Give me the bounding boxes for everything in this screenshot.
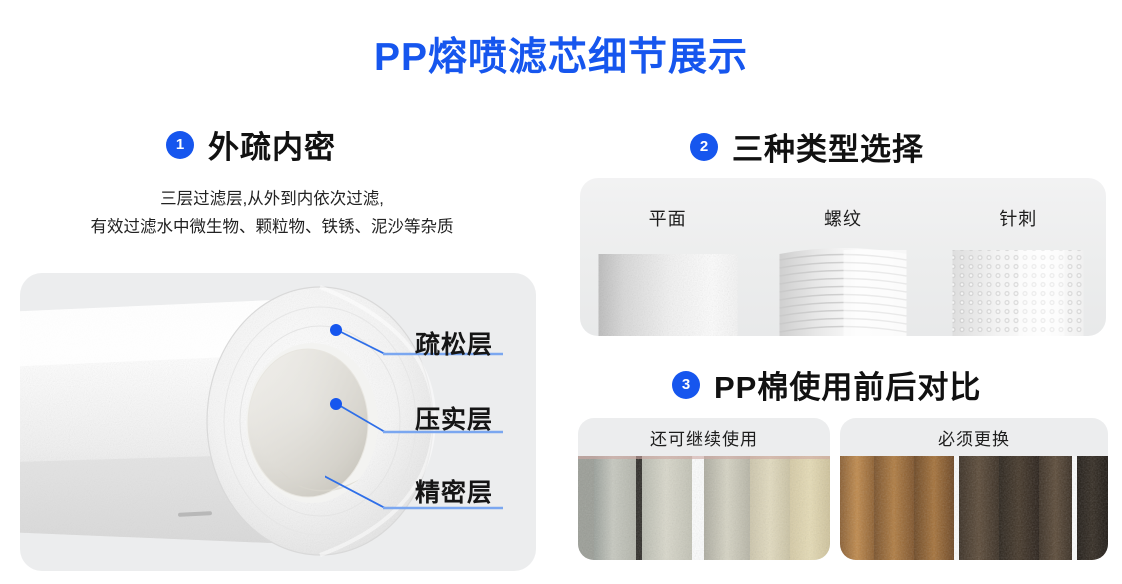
filter-type-flat[interactable]: 平面 [580, 178, 755, 336]
filter-type-image-threaded [773, 240, 912, 336]
filter-type-image-needle [949, 244, 1088, 336]
filter-type-threaded[interactable]: 螺纹 [755, 178, 930, 336]
compare-card-must-replace[interactable]: 必须更换 [840, 418, 1108, 560]
callout-label-loose-layer: 疏松层 [415, 325, 493, 361]
section-badge-2: 2 [690, 133, 718, 161]
section-title-2: 三种类型选择 [732, 124, 924, 169]
section-1-description: 三层过滤层,从外到内依次过滤, 有效过滤水中微生物、颗粒物、铁锈、泥沙等杂质 [12, 185, 532, 241]
section-badge-1: 1 [166, 131, 194, 159]
compare-label-still-usable: 还可继续使用 [578, 418, 830, 456]
description-line-2: 有效过滤水中微生物、颗粒物、铁锈、泥沙等杂质 [12, 213, 532, 241]
callout-label-compact-layer: 压实层 [415, 400, 493, 436]
section-heading-3: 3 PP棉使用前后对比 [672, 362, 981, 407]
page-title: PP熔喷滤芯细节展示 [0, 26, 1122, 82]
compare-image-must-replace [840, 456, 1108, 560]
section-heading-2: 2 三种类型选择 [690, 124, 924, 169]
callout-label-precision-layer: 精密层 [415, 473, 493, 509]
filter-types-card: 平面 [580, 178, 1106, 336]
section-badge-3: 3 [672, 371, 700, 399]
filter-type-label-flat: 平面 [649, 205, 687, 231]
section-title-1: 外疏内密 [208, 122, 336, 167]
filter-type-label-threaded: 螺纹 [824, 205, 862, 231]
compare-image-still-usable [578, 456, 830, 560]
section-heading-1: 1 外疏内密 [166, 122, 336, 167]
compare-card-still-usable[interactable]: 还可继续使用 [578, 418, 830, 560]
compare-label-must-replace: 必须更换 [840, 418, 1108, 456]
filter-type-needle[interactable]: 针刺 [931, 178, 1106, 336]
section-title-3: PP棉使用前后对比 [714, 362, 981, 407]
filter-type-label-needle: 针刺 [999, 205, 1037, 231]
filter-type-image-flat [598, 254, 737, 336]
description-line-1: 三层过滤层,从外到内依次过滤, [12, 185, 532, 213]
